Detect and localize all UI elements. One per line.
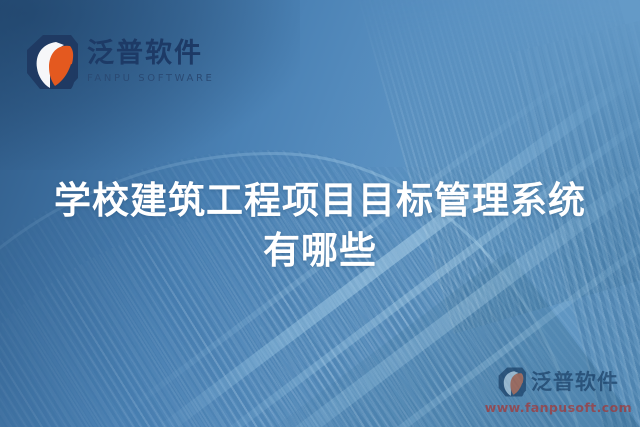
watermark-url: www.fanpusoft.com bbox=[485, 400, 632, 415]
building-tower-right bbox=[355, 0, 640, 334]
watermark[interactable]: 泛普软件 www.fanpusoft.com bbox=[485, 367, 632, 415]
page-title: 学校建筑工程项目目标管理系统 有哪些 bbox=[0, 176, 640, 276]
fanpu-hexagon-logo-icon bbox=[498, 367, 526, 397]
fanpu-hexagon-logo-icon bbox=[26, 34, 78, 90]
brand-name-cn: 泛普软件 bbox=[87, 40, 214, 67]
promo-banner: 泛普软件 FANPU SOFTWARE 学校建筑工程项目目标管理系统 有哪些 泛… bbox=[0, 0, 640, 427]
brand-logo[interactable]: 泛普软件 FANPU SOFTWARE bbox=[26, 34, 214, 90]
brand-name-en: FANPU SOFTWARE bbox=[87, 74, 214, 84]
page-title-line-1: 学校建筑工程项目目标管理系统 bbox=[14, 176, 626, 226]
watermark-brand-name: 泛普软件 bbox=[531, 372, 619, 393]
page-title-line-2: 有哪些 bbox=[14, 226, 626, 276]
